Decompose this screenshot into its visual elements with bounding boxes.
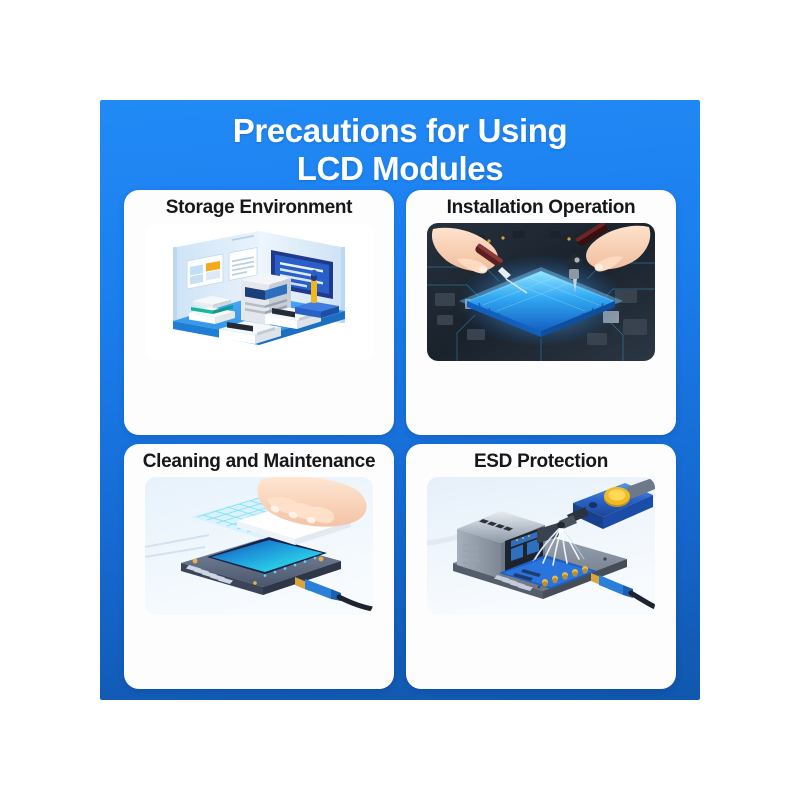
card-title-cleaning-and-maintenance: Cleaning and Maintenance bbox=[143, 452, 375, 473]
card-installation-operation[interactable]: Installation Operation bbox=[406, 190, 676, 435]
card-title-esd-protection: ESD Protection bbox=[474, 452, 608, 473]
card-grid: Storage Environment bbox=[124, 190, 676, 689]
card-title-installation-operation: Installation Operation bbox=[447, 198, 636, 219]
page-title-line-2: LCD Modules bbox=[100, 150, 700, 188]
illustration-esd-ionizer-blower bbox=[427, 477, 655, 615]
page-title: Precautions for Using LCD Modules bbox=[100, 100, 700, 189]
card-cleaning-and-maintenance[interactable]: Cleaning and Maintenance bbox=[124, 444, 394, 689]
illustration-isometric-storage-room bbox=[145, 223, 373, 361]
card-esd-protection[interactable]: ESD Protection bbox=[406, 444, 676, 689]
blue-panel: Precautions for Using LCD Modules Storag… bbox=[100, 100, 700, 700]
illustration-hand-wiping-lcd-screen bbox=[145, 477, 373, 615]
card-title-storage-environment: Storage Environment bbox=[166, 198, 352, 219]
page-title-line-1: Precautions for Using bbox=[100, 112, 700, 150]
poster-root: Precautions for Using LCD Modules Storag… bbox=[0, 0, 800, 800]
illustration-hands-installing-lcd-module bbox=[427, 223, 655, 361]
card-storage-environment[interactable]: Storage Environment bbox=[124, 190, 394, 435]
